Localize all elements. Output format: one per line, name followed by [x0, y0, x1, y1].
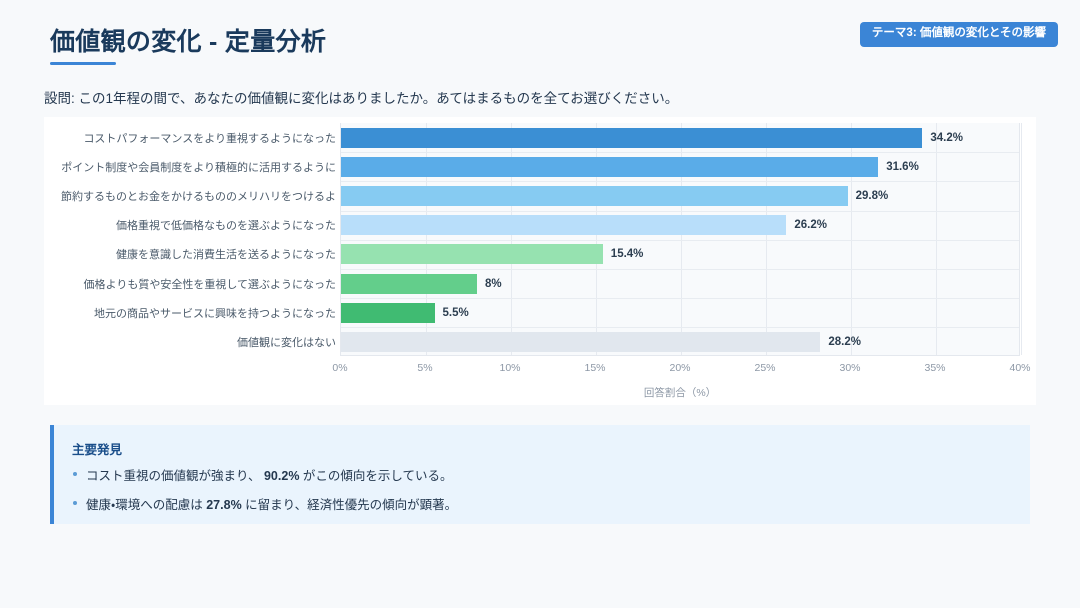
bar-value-label: 34.2%	[930, 132, 963, 144]
bar-value-label: 28.2%	[828, 336, 861, 348]
theme-badge: テーマ3: 価値観の変化とその影響	[860, 22, 1058, 47]
bar-category-label: ポイント制度や会員制度をより積極的に活用するように	[61, 159, 336, 175]
chart-bar-row[interactable]: 節約するものとお金をかけるもののメリハリをつけるよ29.8%	[44, 181, 1036, 210]
x-axis-tick-label: 5%	[417, 362, 432, 374]
slide-root: 価値観の変化 - 定量分析 テーマ3: 価値観の変化とその影響 設問: この1年…	[0, 0, 1080, 608]
bar[interactable]	[341, 244, 603, 264]
finding-text-pre: コスト重視の価値観が強まり、	[86, 469, 264, 483]
survey-question: 設問: この1年程の間で、あなたの価値観に変化はありましたか。あてはまるものを全…	[44, 87, 678, 107]
key-findings-box: 主要発見 コスト重視の価値観が強まり、 90.2% がこの傾向を示している。健康…	[50, 425, 1030, 524]
bar[interactable]	[341, 274, 477, 294]
bar[interactable]	[341, 186, 848, 206]
finding-highlight-value: 27.8%	[206, 498, 241, 512]
bar[interactable]	[341, 157, 878, 177]
chart-bar-row[interactable]: 価格重視で低価格なものを選ぶようになった26.2%	[44, 211, 1036, 240]
key-findings-list: コスト重視の価値観が強まり、 90.2% がこの傾向を示している。健康・環境への…	[72, 465, 457, 523]
bar-category-label: 価格重視で低価格なものを選ぶようになった	[116, 217, 336, 233]
bar-category-label: コストパフォーマンスをより重視するようになった	[83, 130, 336, 146]
bar-category-label: 健康を意識した消費生活を送るようになった	[116, 246, 336, 262]
bar-value-label: 15.4%	[611, 248, 644, 260]
bar[interactable]	[341, 303, 435, 323]
x-axis-tick-label: 25%	[754, 362, 775, 374]
bar-value-label: 5.5%	[443, 307, 469, 319]
x-axis-tick-label: 30%	[839, 362, 860, 374]
finding-text-post: がこの傾向を示している。	[299, 469, 452, 483]
x-axis-tick-label: 40%	[1009, 362, 1030, 374]
chart-bar-row[interactable]: 価値観に変化はない28.2%	[44, 327, 1036, 356]
x-axis-ticks: 0%5%10%15%20%25%30%35%40%	[340, 360, 1020, 378]
x-axis-title: 回答割合（%）	[340, 385, 1020, 400]
key-finding-item: コスト重視の価値観が強まり、 90.2% がこの傾向を示している。	[72, 465, 457, 484]
bar[interactable]	[341, 332, 820, 352]
page-title: 価値観の変化 - 定量分析	[50, 22, 326, 58]
title-underline-accent	[50, 62, 116, 65]
bar-value-label: 31.6%	[886, 161, 919, 173]
chart-bar-row[interactable]: コストパフォーマンスをより重視するようになった34.2%	[44, 123, 1036, 152]
finding-text-post: に留まり、経済性優先の傾向が顕著。	[242, 498, 457, 512]
bar-category-label: 価格よりも質や安全性を重視して選ぶようになった	[84, 276, 336, 292]
x-axis-tick-label: 20%	[669, 362, 690, 374]
x-axis-tick-label: 15%	[584, 362, 605, 374]
key-findings-title: 主要発見	[72, 439, 122, 458]
x-axis-tick-label: 0%	[332, 362, 347, 374]
chart-bar-row[interactable]: 地元の商品やサービスに興味を持つようになった5.5%	[44, 298, 1036, 327]
bar[interactable]	[341, 128, 922, 148]
bar-value-label: 26.2%	[794, 219, 827, 231]
x-axis-tick-label: 35%	[924, 362, 945, 374]
bar-value-label: 29.8%	[856, 190, 889, 202]
bar[interactable]	[341, 215, 786, 235]
x-axis-tick-label: 10%	[499, 362, 520, 374]
finding-text-pre: 健康・環境への配慮は	[86, 498, 206, 512]
chart-bar-row[interactable]: 健康を意識した消費生活を送るようになった15.4%	[44, 240, 1036, 269]
bar-value-label: 8%	[485, 278, 502, 290]
finding-highlight-value: 90.2%	[264, 469, 299, 483]
chart-bar-row[interactable]: ポイント制度や会員制度をより積極的に活用するように31.6%	[44, 152, 1036, 181]
bar-chart: コストパフォーマンスをより重視するようになった34.2%ポイント制度や会員制度を…	[44, 117, 1036, 405]
key-finding-item: 健康・環境への配慮は 27.8% に留まり、経済性優先の傾向が顕著。	[72, 494, 457, 513]
chart-rows: コストパフォーマンスをより重視するようになった34.2%ポイント制度や会員制度を…	[44, 117, 1036, 360]
chart-bar-row[interactable]: 価格よりも質や安全性を重視して選ぶようになった8%	[44, 269, 1036, 298]
bar-category-label: 地元の商品やサービスに興味を持つようになった	[94, 305, 336, 321]
bar-category-label: 価値観に変化はない	[237, 334, 336, 350]
bar-category-label: 節約するものとお金をかけるもののメリハリをつけるよ	[61, 188, 336, 204]
